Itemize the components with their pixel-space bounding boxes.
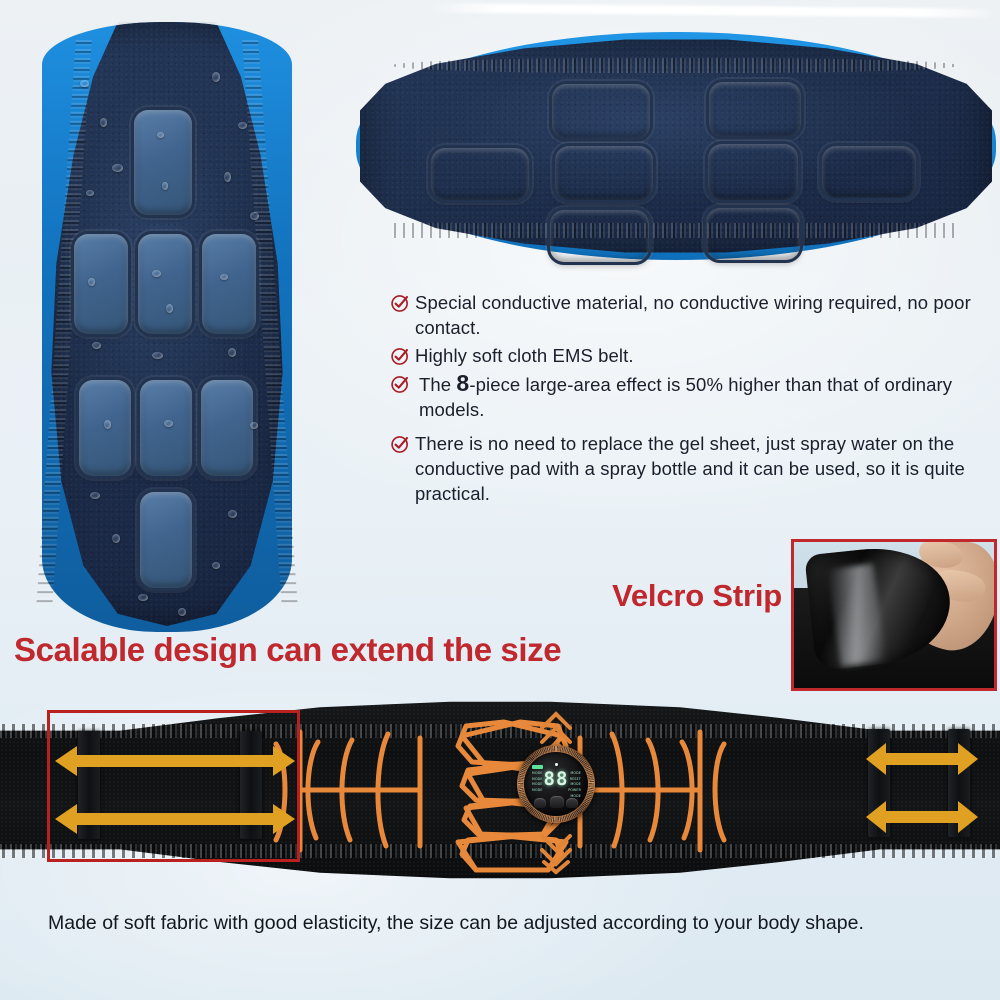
- check-circle-icon: [390, 346, 411, 367]
- water-droplet: [138, 594, 148, 601]
- conductive-pad: [706, 208, 800, 260]
- water-droplet: [166, 304, 173, 313]
- water-droplet: [238, 122, 247, 129]
- water-droplet: [157, 132, 164, 138]
- conductive-pad: [140, 492, 192, 588]
- lcd-label: MODE: [568, 772, 581, 775]
- check-circle-icon: [390, 293, 411, 314]
- feature-text: Highly soft cloth EMS belt.: [415, 343, 634, 368]
- feature-highlight-number: 8: [456, 370, 469, 396]
- water-droplet: [212, 72, 220, 82]
- water-droplet: [112, 534, 120, 543]
- lcd-left-labels: MODE MODE MODE MODE: [532, 772, 543, 792]
- conductive-pad: [202, 234, 256, 334]
- bottom-caption: Made of soft fabric with good elasticity…: [48, 908, 968, 939]
- feature-text: The 8-piece large-area effect is 50% hig…: [415, 371, 995, 422]
- button-minus[interactable]: [534, 798, 546, 808]
- stitch-edge-top: [392, 58, 958, 73]
- feature-list: Special conductive material, no conducti…: [390, 290, 995, 509]
- water-droplet: [228, 510, 237, 518]
- battery-indicator-icon: [532, 765, 543, 769]
- water-droplet: [250, 422, 258, 429]
- feature-item: The 8-piece large-area effect is 50% hig…: [390, 371, 995, 422]
- button-mode[interactable]: [550, 796, 564, 808]
- water-droplet: [250, 212, 259, 220]
- water-droplet: [86, 190, 94, 196]
- check-circle-icon: [390, 434, 411, 455]
- water-droplet: [92, 342, 101, 349]
- lcd-label: MODE: [532, 772, 543, 775]
- conductive-pad: [555, 146, 653, 200]
- feature-text-before: The: [419, 374, 456, 395]
- water-droplet: [178, 608, 186, 616]
- water-droplet: [162, 182, 168, 190]
- lcd-label: MODE: [532, 789, 543, 792]
- velcro-strip-photo: [791, 539, 997, 691]
- feature-item: Special conductive material, no conducti…: [390, 290, 995, 340]
- feature-text-after: -piece large-area effect is 50% higher t…: [419, 374, 952, 420]
- product-image-belt-horizontal: [356, 32, 996, 260]
- water-droplet: [224, 172, 231, 182]
- conductive-pad: [74, 234, 128, 334]
- lcd-screen: MODE MODE MODE MODE MODE RESET MODE POWE…: [524, 752, 588, 816]
- check-circle-icon: [390, 374, 411, 395]
- water-droplet: [212, 562, 220, 569]
- water-droplet: [90, 492, 100, 499]
- conductive-pad: [138, 234, 192, 334]
- water-droplet: [152, 270, 161, 277]
- water-droplet: [112, 164, 123, 172]
- conductive-pad: [140, 380, 192, 476]
- water-droplet: [228, 348, 236, 357]
- lcd-label: RESET: [568, 778, 581, 781]
- infographic-canvas: Special conductive material, no conducti…: [0, 0, 1000, 1000]
- conductive-pad: [134, 110, 192, 215]
- conductive-pad: [708, 144, 798, 200]
- feature-item: There is no need to replace the gel shee…: [390, 431, 995, 506]
- top-highlight-streak: [430, 3, 990, 17]
- water-droplet: [164, 420, 173, 427]
- feature-item: Highly soft cloth EMS belt.: [390, 343, 995, 368]
- conductive-pad: [431, 148, 529, 200]
- conductive-pad: [201, 380, 253, 476]
- lcd-label: MODE: [568, 783, 581, 786]
- conductive-pad: [550, 210, 649, 262]
- feature-text: Special conductive material, no conducti…: [415, 290, 995, 340]
- extend-arrows-right: [866, 736, 978, 836]
- feature-text: There is no need to replace the gel shee…: [415, 431, 995, 506]
- conductive-pad: [552, 84, 650, 139]
- conductive-pad: [822, 146, 916, 198]
- product-image-belt-vertical: [42, 22, 292, 632]
- scalable-design-headline: Scalable design can extend the size: [14, 631, 561, 669]
- lcd-label: MODE: [532, 783, 543, 786]
- water-droplet: [104, 420, 111, 429]
- control-unit-dial[interactable]: MODE MODE MODE MODE MODE RESET MODE POWE…: [517, 745, 595, 823]
- conductive-pad: [709, 82, 801, 137]
- lcd-display-value: 88: [544, 768, 569, 790]
- water-droplet: [100, 118, 107, 127]
- lcd-label: MODE: [532, 778, 543, 781]
- lcd-right-labels: MODE RESET MODE POWER MODE: [568, 772, 581, 798]
- status-dot-icon: [555, 763, 558, 766]
- button-plus[interactable]: [566, 798, 578, 808]
- velcro-strip-label: Velcro Strip: [592, 578, 782, 614]
- stitch-edge-bottom: [392, 223, 958, 238]
- water-droplet: [80, 80, 89, 87]
- extend-highlight-box: [47, 710, 300, 862]
- water-droplet: [220, 274, 228, 280]
- water-droplet: [152, 352, 163, 359]
- water-droplet: [88, 278, 95, 286]
- lcd-label: POWER: [568, 789, 581, 792]
